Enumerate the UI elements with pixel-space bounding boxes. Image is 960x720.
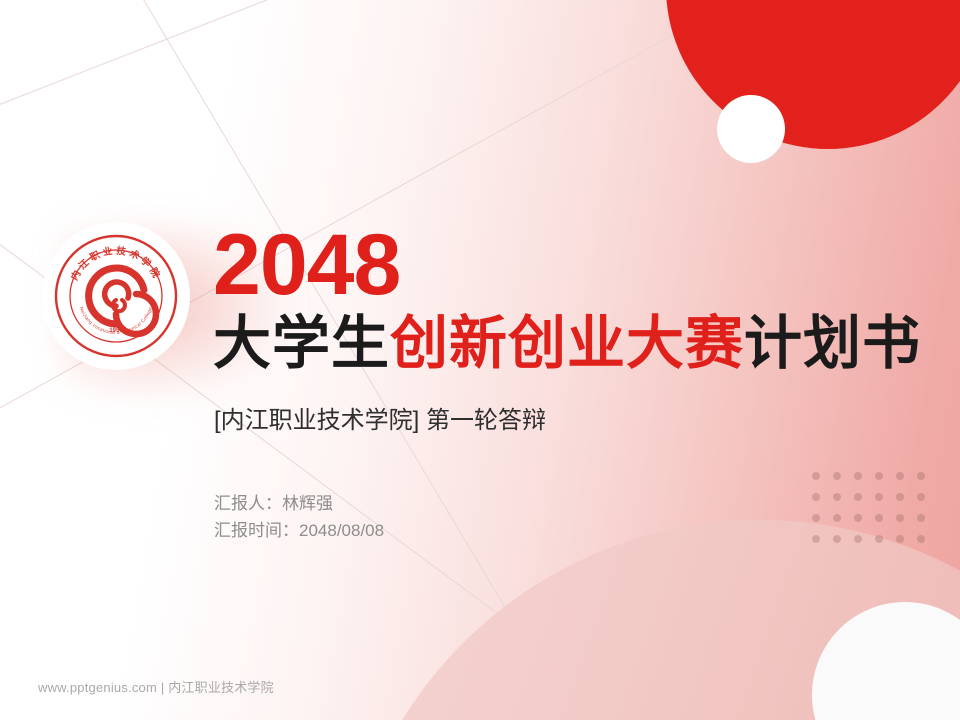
presenter-name: 汇报人：林辉强: [214, 490, 384, 517]
footer-credit: www.pptgenius.com | 内江职业技术学院: [38, 679, 274, 697]
university-seal-icon: 内江职业技术学院 NeiJiang Vocational & Technical…: [52, 232, 180, 360]
title-part-2: 创新创业大赛: [390, 311, 744, 376]
year-label: 2048: [213, 222, 400, 308]
presentation-title-slide: 内江职业技术学院 NeiJiang Vocational & Technical…: [0, 0, 960, 720]
presenter-meta: 汇报人：林辉强 汇报时间：2048/08/08: [214, 490, 384, 544]
seal-year-text: 1956: [109, 328, 123, 334]
title-content-block: 2048 大学生创新创业大赛计划书 [内江职业技术学院] 第一轮答辩 汇报人：林…: [213, 0, 933, 720]
page-title: 大学生创新创业大赛计划书: [213, 313, 921, 375]
presentation-date: 汇报时间：2048/08/08: [214, 517, 384, 544]
title-part-1: 大学生: [213, 311, 390, 376]
subtitle: [内江职业技术学院] 第一轮答辩: [214, 406, 546, 436]
title-part-3: 计划书: [744, 311, 921, 376]
